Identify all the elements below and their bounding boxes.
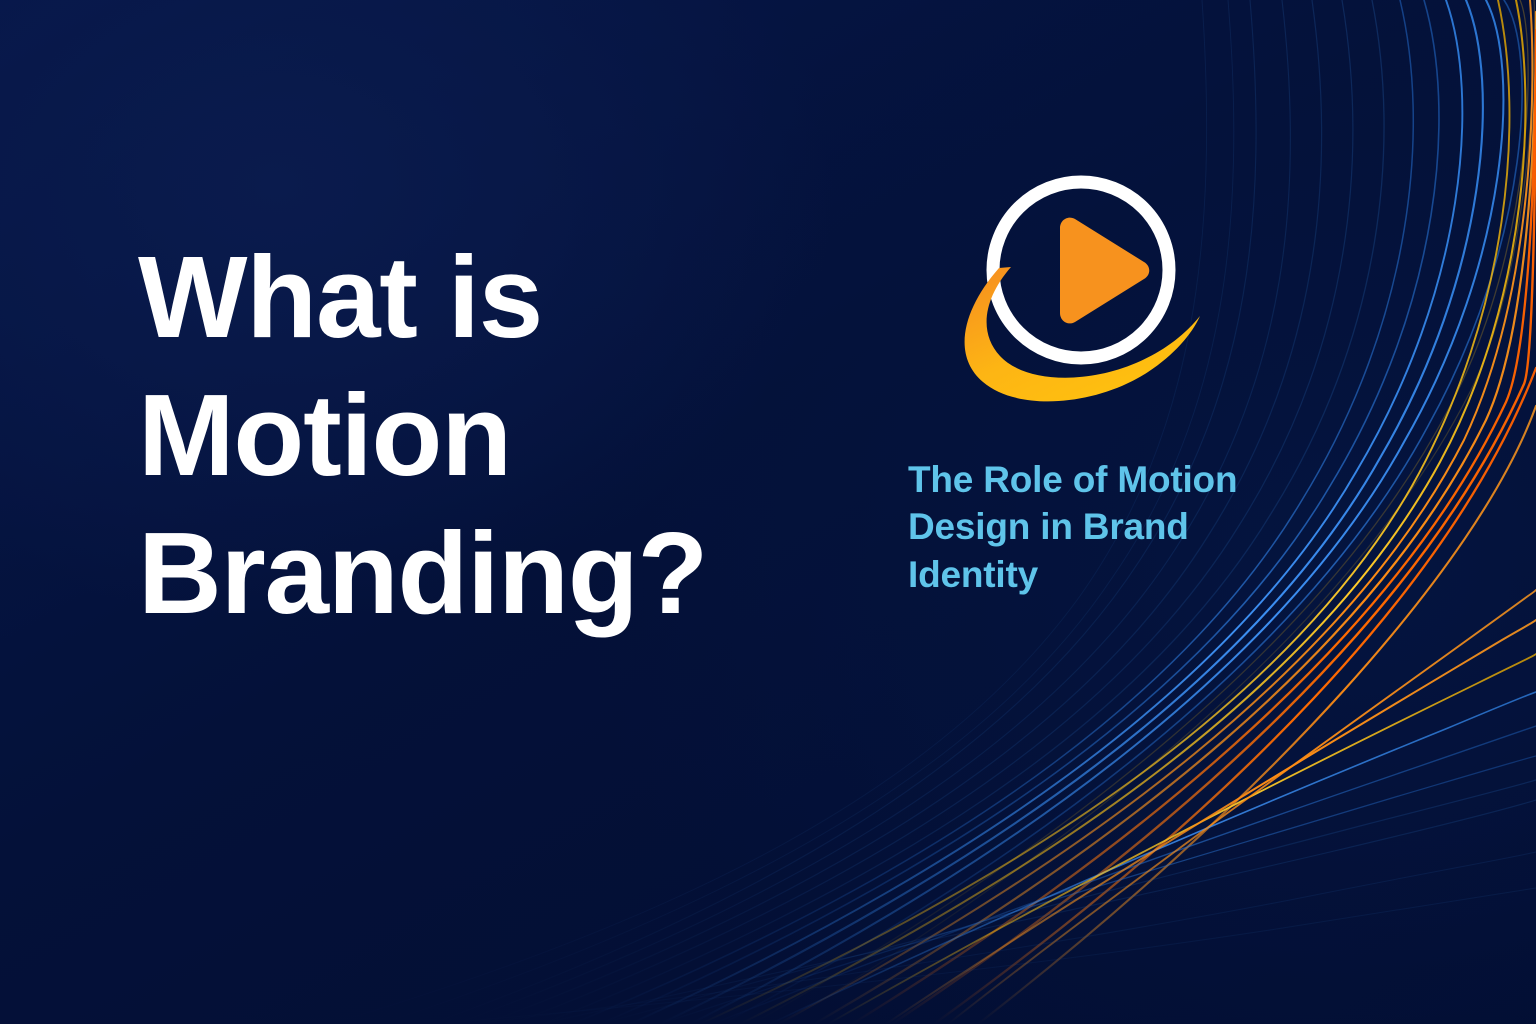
logo-container — [926, 160, 1226, 422]
play-button-logo-icon — [926, 160, 1226, 422]
page-title: What is Motion Branding? — [138, 228, 838, 642]
headline-block: What is Motion Branding? — [138, 228, 838, 642]
subtitle: The Role of Motion Design in Brand Ident… — [908, 422, 1308, 598]
slide-canvas: What is Motion Branding? — [0, 0, 1536, 1024]
play-triangle-icon — [1060, 218, 1149, 324]
brand-block: The Role of Motion Design in Brand Ident… — [908, 160, 1328, 598]
